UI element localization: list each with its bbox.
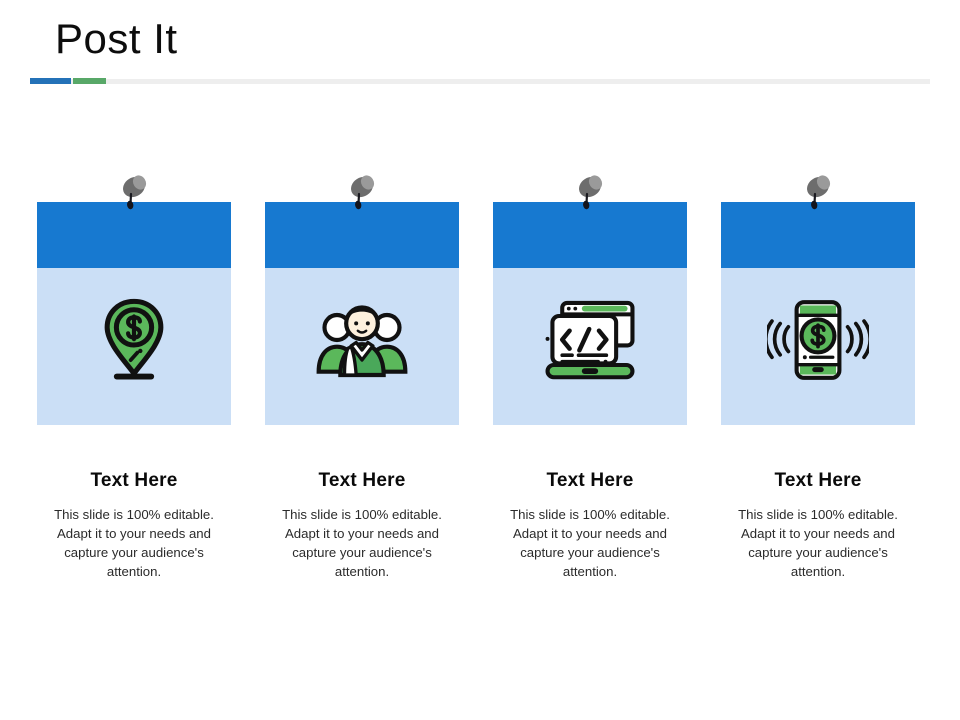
title-divider-accent-green bbox=[73, 78, 106, 84]
note-card-header bbox=[493, 202, 687, 268]
post-it-card[interactable]: Text Here This slide is 100% editable. A… bbox=[493, 202, 687, 581]
note-card-surface[interactable] bbox=[265, 202, 459, 425]
title-divider-accent-blue bbox=[30, 78, 71, 84]
note-card-header bbox=[721, 202, 915, 268]
card-heading: Text Here bbox=[721, 470, 915, 492]
note-card-header bbox=[265, 202, 459, 268]
title-divider-rule bbox=[30, 79, 930, 84]
note-card-surface[interactable] bbox=[721, 202, 915, 425]
note-card-surface[interactable] bbox=[37, 202, 231, 425]
people-group-icon bbox=[265, 280, 459, 400]
card-heading: Text Here bbox=[37, 470, 231, 492]
page-title: Post It bbox=[55, 13, 178, 65]
mobile-payment-icon bbox=[721, 280, 915, 400]
card-body-text: This slide is 100% editable. Adapt it to… bbox=[265, 505, 459, 581]
post-it-card[interactable]: Text Here This slide is 100% editable. A… bbox=[721, 202, 915, 581]
card-body-text: This slide is 100% editable. Adapt it to… bbox=[721, 505, 915, 581]
post-it-card[interactable]: Text Here This slide is 100% editable. A… bbox=[265, 202, 459, 581]
note-card-header bbox=[37, 202, 231, 268]
map-pin-dollar-icon bbox=[37, 280, 231, 400]
card-heading: Text Here bbox=[265, 470, 459, 492]
note-card-surface[interactable] bbox=[493, 202, 687, 425]
card-body-text: This slide is 100% editable. Adapt it to… bbox=[37, 505, 231, 581]
post-it-card[interactable]: Text Here This slide is 100% editable. A… bbox=[37, 202, 231, 581]
card-body-text: This slide is 100% editable. Adapt it to… bbox=[493, 505, 687, 581]
slide-header: Post It bbox=[0, 0, 960, 100]
post-it-card-row: Text Here This slide is 100% editable. A… bbox=[37, 202, 915, 582]
laptop-code-icon bbox=[493, 280, 687, 400]
card-heading: Text Here bbox=[493, 470, 687, 492]
